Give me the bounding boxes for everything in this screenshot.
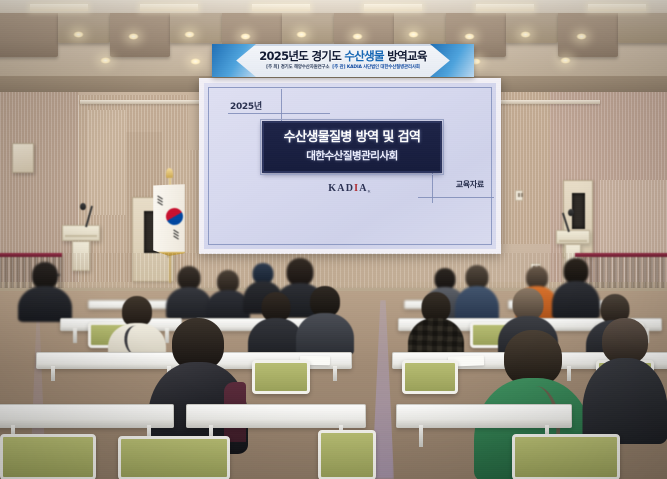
ceiling-light-strip bbox=[252, 4, 310, 11]
projected-slide: 2025년 교육자료 수산생물질병 방역 및 검역 대한수산질병관리사회 KAD… bbox=[204, 83, 496, 249]
desk-row-front bbox=[0, 404, 174, 428]
flag-finial-icon bbox=[166, 168, 173, 178]
wall-rail bbox=[490, 100, 600, 104]
attendee bbox=[18, 262, 72, 320]
ceiling-baffle bbox=[282, 13, 334, 43]
ceiling-light-strip bbox=[30, 4, 88, 11]
attendee bbox=[296, 286, 354, 352]
slide-year-label: 2025년 bbox=[230, 99, 262, 112]
lectern-right[interactable] bbox=[556, 230, 590, 244]
photo-scene: 2025년 교육자료 수산생물질병 방역 및 검역 대한수산질병관리사회 KAD… bbox=[0, 0, 667, 479]
banner-title: 2025년도 경기도 수산생물 방역교육 bbox=[212, 48, 474, 64]
desk-row-front bbox=[396, 404, 572, 428]
chair[interactable] bbox=[252, 360, 310, 394]
downlight-icon bbox=[408, 31, 419, 38]
slide-deco-line bbox=[418, 197, 494, 198]
chair-front[interactable] bbox=[318, 430, 376, 479]
projection-screen: 2025년 교육자료 수산생물질병 방역 및 검역 대한수산질병관리사회 KAD… bbox=[199, 78, 501, 254]
slide-deco-line bbox=[281, 89, 282, 123]
wall-rail bbox=[80, 100, 200, 104]
korean-flag-taegukgi bbox=[153, 184, 185, 256]
attendee-foreground bbox=[148, 318, 248, 448]
downlight-icon bbox=[520, 31, 531, 38]
desk-row-front bbox=[186, 404, 366, 428]
attendee bbox=[408, 292, 464, 356]
banner-title-part2: 방역교육 bbox=[387, 49, 427, 63]
downlight-icon bbox=[73, 31, 84, 38]
chair-front[interactable] bbox=[0, 434, 96, 479]
downlight-icon bbox=[560, 57, 571, 64]
microphone-icon-right bbox=[568, 209, 574, 216]
downlight-icon bbox=[464, 33, 475, 40]
lectern-left[interactable] bbox=[62, 225, 100, 241]
table-top-edge bbox=[0, 253, 62, 257]
ceiling-baffle bbox=[558, 13, 618, 57]
table-top-edge bbox=[575, 253, 667, 257]
ceiling-soffit bbox=[0, 0, 667, 13]
attendee-head bbox=[32, 262, 58, 289]
downlight-icon bbox=[240, 33, 251, 40]
downlight-icon bbox=[184, 31, 195, 38]
ceiling-baffle bbox=[618, 13, 667, 43]
attendee-torso bbox=[582, 358, 667, 444]
wall-switch-icon bbox=[515, 190, 523, 201]
attendee-torso bbox=[296, 313, 354, 355]
chair-front[interactable] bbox=[118, 436, 230, 479]
kadia-logo-a: KAD bbox=[328, 183, 354, 194]
downlight-icon bbox=[190, 58, 201, 65]
downlight-icon bbox=[576, 33, 587, 40]
ceiling-baffle bbox=[58, 13, 110, 43]
chair-front[interactable] bbox=[512, 434, 620, 479]
ceiling-baffle bbox=[170, 13, 222, 43]
banner-organizer: [주 관] KADIA 사단법인 대한수산질병관리사회 bbox=[332, 65, 420, 70]
downlight-icon bbox=[100, 57, 111, 64]
chair[interactable] bbox=[402, 360, 458, 394]
glasses-icon bbox=[56, 274, 60, 276]
banner-title-highlight: 수산생물 bbox=[344, 49, 387, 63]
slide-title-sub: 대한수산질병관리사회 bbox=[306, 148, 398, 163]
attendee-head bbox=[287, 258, 314, 286]
ceiling-light-strip bbox=[140, 4, 198, 11]
slide-deco-line bbox=[228, 113, 330, 114]
wall-speaker-icon bbox=[12, 143, 34, 173]
downlight-icon bbox=[128, 33, 139, 40]
ceiling-baffle bbox=[110, 13, 170, 57]
ceiling-light-strip bbox=[364, 4, 422, 11]
event-banner: 2025년도 경기도 수산생물 방역교육 [주 최] 경기도 해양수산자원연구소… bbox=[212, 44, 474, 77]
banner-title-part1: 2025년도 경기도 bbox=[259, 49, 344, 63]
banner-subtitle: [주 최] 경기도 해양수산자원연구소 [주 관] KADIA 사단법인 대한수… bbox=[212, 64, 474, 70]
lectern-shelf bbox=[559, 240, 587, 242]
kadia-logo-b: A bbox=[359, 183, 367, 194]
taeguk-symbol-icon bbox=[163, 205, 185, 228]
microphone-icon-left bbox=[80, 203, 86, 210]
ceiling-light-strip bbox=[476, 4, 534, 11]
downlight-icon bbox=[352, 33, 363, 40]
lectern-shelf bbox=[65, 235, 97, 237]
ceiling-baffle bbox=[394, 13, 446, 43]
ceiling-light-strip bbox=[588, 4, 646, 11]
attendee-torso bbox=[18, 286, 72, 322]
wall-panel bbox=[88, 110, 126, 215]
kadia-logo: KADIAᴷ bbox=[204, 183, 496, 196]
banner-host: [주 최] 경기도 해양수산자원연구소 bbox=[266, 65, 329, 70]
slide-title-main: 수산생물질병 방역 및 검역 bbox=[284, 131, 421, 145]
ceiling-baffle bbox=[0, 13, 58, 57]
kadia-logo-tail: ᴷ bbox=[368, 190, 372, 196]
ceiling-baffle bbox=[506, 13, 558, 43]
slide-title-box: 수산생물질병 방역 및 검역 대한수산질병관리사회 bbox=[262, 121, 442, 173]
attendee-foreground bbox=[582, 318, 667, 438]
downlight-icon bbox=[296, 31, 307, 38]
